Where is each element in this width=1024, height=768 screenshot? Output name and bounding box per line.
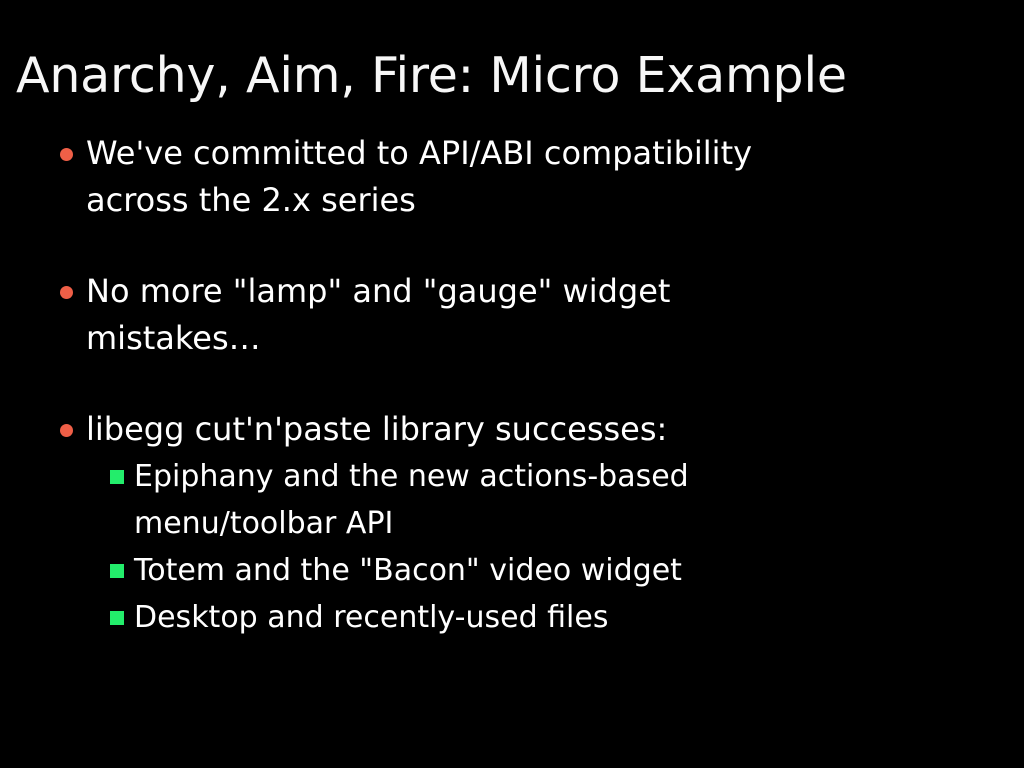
list-item-line: libegg cut'n'paste library successes: (86, 406, 966, 453)
square-bullet-icon (110, 470, 124, 484)
list-item-line: across the 2.x series (86, 177, 966, 224)
page-title: Anarchy, Aim, Fire: Micro Example (16, 49, 1008, 104)
list-item: We've committed to API/ABI compatibility… (0, 130, 966, 224)
sub-list-item-line: Desktop and recently-used files (134, 594, 994, 641)
presentation-slide: Anarchy, Aim, Fire: Micro Example We've … (0, 0, 1024, 768)
list-item-line: We've committed to API/ABI compatibility (86, 130, 966, 177)
dot-bullet-icon (60, 286, 73, 299)
sub-list: Epiphany and the new actions-based menu/… (0, 453, 1024, 641)
sub-list-item-line: menu/toolbar API (134, 500, 994, 547)
square-bullet-icon (110, 611, 124, 625)
bullet-group: We've committed to API/ABI compatibility… (0, 130, 1024, 224)
sub-list-item-line: Epiphany and the new actions-based (134, 453, 994, 500)
list-item: No more "lamp" and "gauge" widget mistak… (0, 268, 966, 362)
square-bullet-icon (110, 564, 124, 578)
sub-list-item-line: Totem and the "Bacon" video widget (134, 547, 994, 594)
list-item-line: No more "lamp" and "gauge" widget (86, 268, 966, 315)
dot-bullet-icon (60, 424, 73, 437)
bullet-group: No more "lamp" and "gauge" widget mistak… (0, 268, 1024, 362)
bullet-group: libegg cut'n'paste library successes: Ep… (0, 406, 1024, 641)
sub-list-item: Desktop and recently-used files (0, 594, 994, 641)
list-item-line: mistakes… (86, 315, 966, 362)
list-item: libegg cut'n'paste library successes: (0, 406, 966, 453)
sub-list-item: Epiphany and the new actions-based menu/… (0, 453, 994, 547)
slide-body: We've committed to API/ABI compatibility… (0, 130, 1024, 641)
sub-list-item: Totem and the "Bacon" video widget (0, 547, 994, 594)
dot-bullet-icon (60, 148, 73, 161)
